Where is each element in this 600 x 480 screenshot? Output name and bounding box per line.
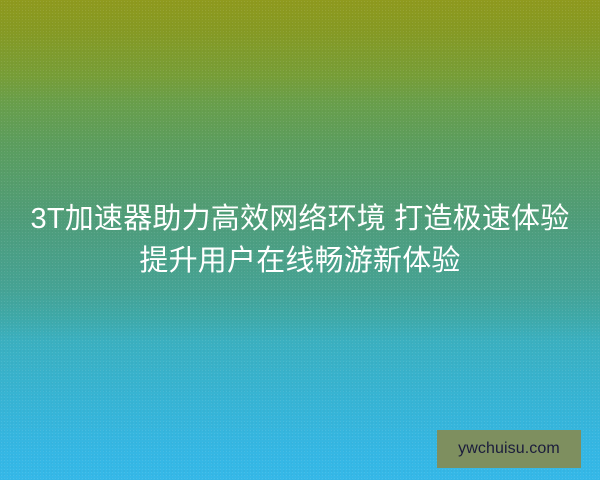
poster-canvas: 3T加速器助力高效网络环境 打造极速体验提升用户在线畅游新体验 ywchuisu… [0, 0, 600, 480]
watermark-badge: ywchuisu.com [437, 430, 581, 468]
watermark-domain-label: ywchuisu.com [458, 440, 560, 458]
headline-text: 3T加速器助力高效网络环境 打造极速体验提升用户在线畅游新体验 [30, 198, 570, 282]
